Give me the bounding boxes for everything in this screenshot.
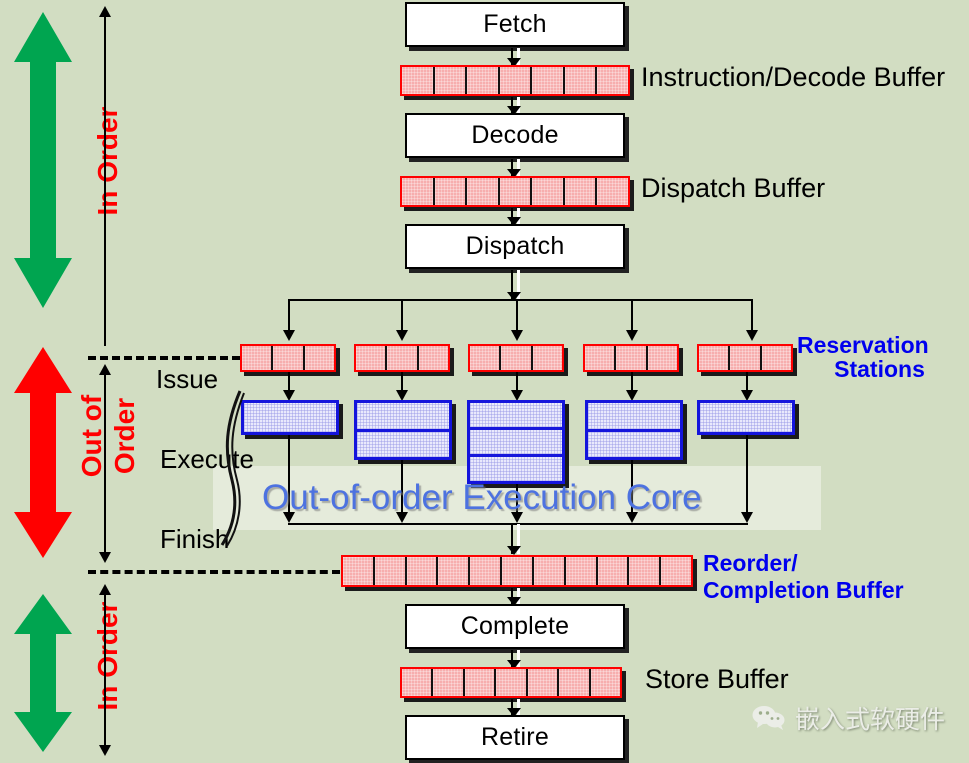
dispatch-buffer-cell <box>500 178 533 205</box>
dispatch-buffer[interactable] <box>400 176 630 207</box>
dispatch-buffer-cell <box>467 178 500 205</box>
in-order-out-of-order-divider-bottom <box>88 570 340 574</box>
reservation-station-1[interactable] <box>240 344 336 372</box>
out-of-order-axis-arrowhead-top <box>99 364 111 375</box>
reorder-completion-buffer-cell <box>661 557 691 585</box>
reservation-station-5[interactable] <box>697 344 793 372</box>
store-buffer-label: Store Buffer <box>645 664 789 695</box>
pipe-decode-to-dispatchbuffer <box>511 159 521 177</box>
reservation-station-cell <box>648 346 677 370</box>
store-buffer-cell <box>433 669 464 696</box>
reservation-station-cell <box>533 346 562 370</box>
reorder-completion-buffer-cell <box>629 557 661 585</box>
in-order-bottom-label: In Order <box>92 586 124 726</box>
functional-unit-row <box>244 403 336 432</box>
reservation-station-cell <box>356 346 387 370</box>
instruction-decode-buffer-cell <box>435 67 468 94</box>
store-buffer-cell <box>496 669 527 696</box>
store-buffer-cell <box>559 669 590 696</box>
pipe-finish-to-reorder-buffer <box>511 524 521 554</box>
out-of-order-axis-arrowhead-bottom <box>99 552 111 563</box>
reservation-station-cell <box>387 346 418 370</box>
stage-decode[interactable]: Decode <box>405 113 625 158</box>
reorder-completion-buffer-label-line2: Completion Buffer <box>703 578 904 603</box>
reservation-station-cell <box>305 346 334 370</box>
functional-unit-row <box>357 403 449 432</box>
dispatch-buffer-cell <box>565 178 598 205</box>
in-order-top-axis-arrowhead <box>99 6 111 17</box>
reservation-station-cell <box>730 346 761 370</box>
pipe-dispatchbuffer-to-dispatch <box>511 208 521 225</box>
wechat-icon <box>752 705 786 731</box>
diagram-canvas: In Order Out of Order In Order Fetch Ins… <box>0 0 969 763</box>
stage-fetch[interactable]: Fetch <box>405 2 625 47</box>
functional-unit-row <box>588 403 680 432</box>
functional-unit-row <box>470 430 562 457</box>
functional-unit-1[interactable] <box>241 400 339 435</box>
reorder-completion-buffer-cell <box>375 557 407 585</box>
instruction-decode-buffer-cell <box>402 67 435 94</box>
pipe-fetch-to-idbuffer <box>511 48 521 66</box>
functional-unit-4[interactable] <box>585 400 683 460</box>
dispatch-fanout-bus <box>288 299 753 301</box>
reservation-station-cell <box>699 346 730 370</box>
reservation-station-2[interactable] <box>354 344 450 372</box>
reservation-station-3[interactable] <box>468 344 564 372</box>
instruction-decode-buffer-cell <box>467 67 500 94</box>
phase-label-finish: Finish <box>160 524 229 555</box>
instruction-decode-buffer[interactable] <box>400 65 630 96</box>
functional-unit-3[interactable] <box>467 400 565 484</box>
dispatch-buffer-cell <box>435 178 468 205</box>
watermark-text: 嵌入式软硬件 <box>795 700 945 736</box>
fu-to-finish-arrowhead-5 <box>741 512 753 523</box>
reorder-completion-buffer[interactable] <box>341 555 693 587</box>
reservation-station-cell <box>419 346 448 370</box>
functional-unit-row <box>700 403 792 432</box>
store-buffer-cell <box>528 669 559 696</box>
in-order-out-of-order-divider-top <box>88 356 240 360</box>
reservation-station-cell <box>762 346 791 370</box>
fanout-arrowhead-1 <box>283 330 295 341</box>
reservation-stations-label-line2: Stations <box>797 357 962 382</box>
stage-dispatch[interactable]: Dispatch <box>405 224 625 269</box>
functional-unit-row <box>357 432 449 458</box>
watermark: 嵌入式软硬件 <box>752 700 945 736</box>
stage-complete[interactable]: Complete <box>405 604 625 649</box>
instruction-decode-buffer-cell <box>500 67 533 94</box>
stage-retire[interactable]: Retire <box>405 715 625 760</box>
reorder-completion-buffer-cell <box>566 557 598 585</box>
dispatch-buffer-label: Dispatch Buffer <box>641 173 825 204</box>
phase-label-execute: Execute <box>160 444 254 475</box>
pipe-idbuffer-to-decode <box>511 97 521 114</box>
in-order-top-label: In Order <box>92 91 124 231</box>
functional-unit-row <box>470 403 562 430</box>
in-order-bottom-axis-arrowhead-top <box>99 584 111 595</box>
reorder-completion-buffer-label-line1: Reorder/ <box>703 551 798 576</box>
in-order-bottom-arrow <box>12 592 74 754</box>
instruction-decode-buffer-cell <box>532 67 565 94</box>
reservation-station-cell <box>501 346 532 370</box>
in-order-bottom-axis-arrowhead-bottom <box>99 745 111 756</box>
dispatch-buffer-cell <box>402 178 435 205</box>
functional-unit-5[interactable] <box>697 400 795 435</box>
out-of-order-axis <box>104 372 106 554</box>
reorder-completion-buffer-cell <box>407 557 439 585</box>
reorder-completion-buffer-cell <box>470 557 502 585</box>
instruction-decode-buffer-label: Instruction/Decode Buffer <box>641 62 945 93</box>
phase-label-issue: Issue <box>156 364 218 395</box>
store-buffer-cell <box>402 669 433 696</box>
reorder-completion-buffer-cell <box>534 557 566 585</box>
pipe-rob-to-complete <box>511 588 521 605</box>
fanout-arrowhead-3 <box>511 330 523 341</box>
in-order-bottom-axis <box>104 592 106 754</box>
reservation-station-cell <box>242 346 273 370</box>
reservation-station-cell <box>470 346 501 370</box>
dispatch-buffer-cell <box>597 178 628 205</box>
functional-unit-2[interactable] <box>354 400 452 460</box>
fanout-arrowhead-5 <box>746 330 758 341</box>
in-order-top-axis <box>104 16 106 346</box>
reorder-completion-buffer-cell <box>598 557 630 585</box>
out-of-order-label-line2: Order <box>109 366 141 506</box>
instruction-decode-buffer-cell <box>565 67 598 94</box>
pipe-dispatch-to-fanout <box>511 270 521 300</box>
reorder-completion-buffer-cell <box>438 557 470 585</box>
pipe-complete-to-storebuffer <box>511 650 521 668</box>
dispatch-buffer-cell <box>532 178 565 205</box>
reservation-station-cell <box>273 346 304 370</box>
store-buffer[interactable] <box>400 667 622 698</box>
store-buffer-cell <box>465 669 496 696</box>
in-order-top-arrow <box>12 10 74 310</box>
reservation-station-4[interactable] <box>583 344 679 372</box>
reservation-stations-label-line1: Reservation <box>797 333 929 358</box>
fanout-arrowhead-2 <box>396 330 408 341</box>
out-of-order-arrow <box>12 345 74 560</box>
reservation-station-cell <box>585 346 616 370</box>
pipe-storebuffer-to-retire <box>511 699 521 716</box>
execution-core-title: Out-of-order Execution Core <box>262 478 702 518</box>
fanout-arrowhead-4 <box>626 330 638 341</box>
functional-unit-row <box>588 432 680 458</box>
reservation-station-cell <box>616 346 647 370</box>
reorder-completion-buffer-cell <box>502 557 534 585</box>
reorder-completion-buffer-cell <box>343 557 375 585</box>
fu-to-finish-line-5 <box>746 435 748 520</box>
store-buffer-cell <box>591 669 620 696</box>
instruction-decode-buffer-cell <box>597 67 628 94</box>
